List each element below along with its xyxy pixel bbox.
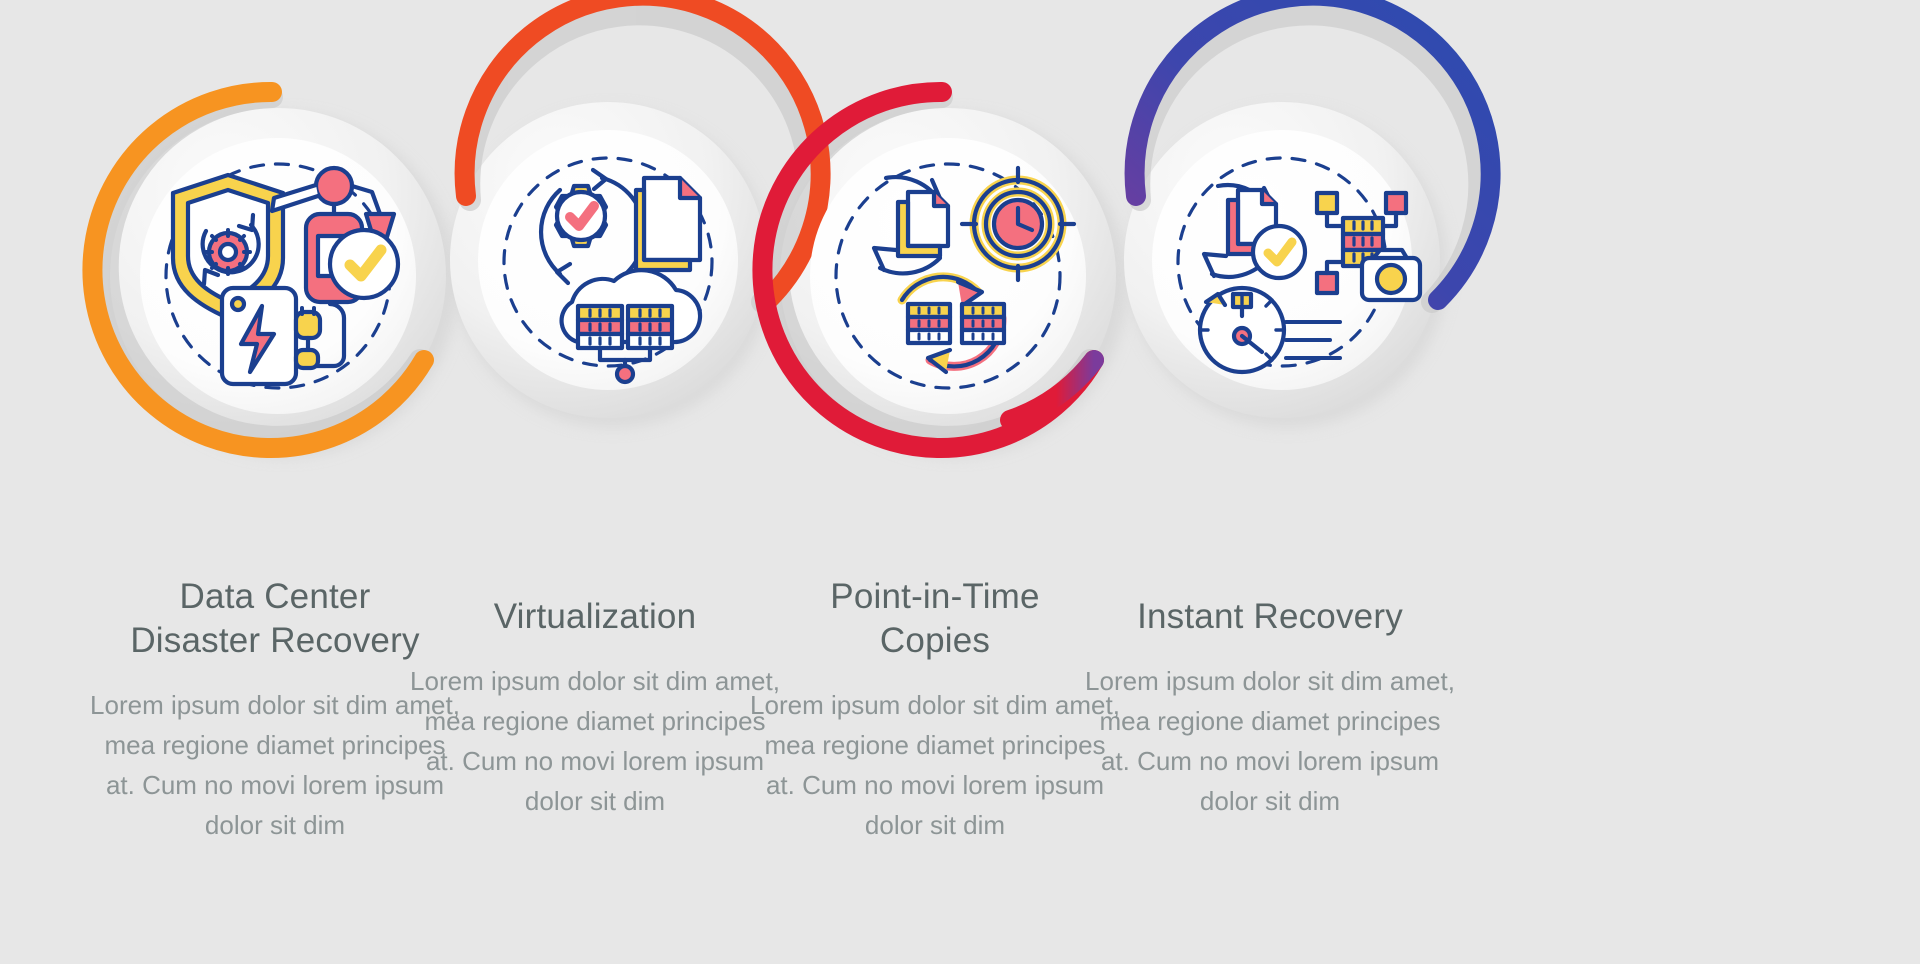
gear-core [206, 230, 250, 274]
server-right [628, 306, 672, 348]
camera-icon [1362, 250, 1420, 300]
server-b [962, 304, 1004, 343]
server-a [908, 304, 950, 343]
infographic-canvas: Data Center Disaster Recovery Lorem ipsu… [0, 0, 1920, 964]
step-4-title: Instant Recovery [1060, 595, 1480, 639]
server-left [578, 306, 622, 348]
step-4[interactable]: Instant Recovery Lorem ipsum dolor sit d… [1060, 595, 1480, 821]
document-icon [636, 178, 700, 270]
step-4-body: Lorem ipsum dolor sit dim amet, mea regi… [1060, 661, 1480, 821]
